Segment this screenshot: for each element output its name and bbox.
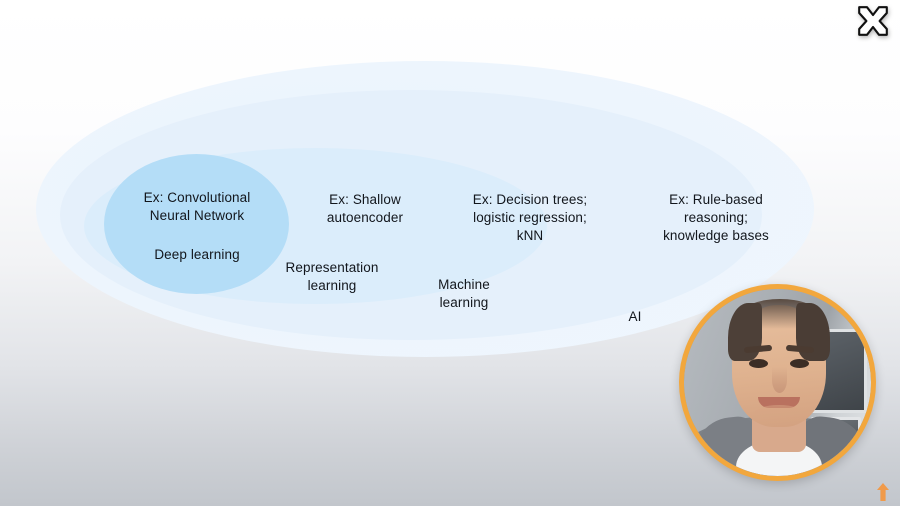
examples-machine-learning: Ex: Decision trees; logistic regression;… [437, 191, 623, 245]
x-logo-icon [856, 4, 890, 38]
examples-deep-learning: Ex: Convolutional Neural Network [104, 189, 290, 225]
label-ai: AI [607, 308, 663, 326]
presenter-eye-right [790, 359, 809, 368]
up-arrow-cursor-icon [876, 483, 890, 501]
presenter-eye-left [749, 359, 768, 368]
presenter-webcam-bubble[interactable] [679, 284, 876, 481]
examples-ai: Ex: Rule-based reasoning; knowledge base… [626, 191, 806, 245]
presenter-avatar [684, 289, 871, 476]
presenter-chin [754, 405, 804, 423]
label-machine-learning: Machine learning [412, 276, 516, 312]
label-representation-learning: Representation learning [258, 259, 406, 295]
slide-canvas: Ex: Convolutional Neural Network Deep le… [0, 0, 900, 506]
presenter-nose [772, 367, 787, 393]
examples-representation-learning: Ex: Shallow autoencoder [285, 191, 445, 227]
